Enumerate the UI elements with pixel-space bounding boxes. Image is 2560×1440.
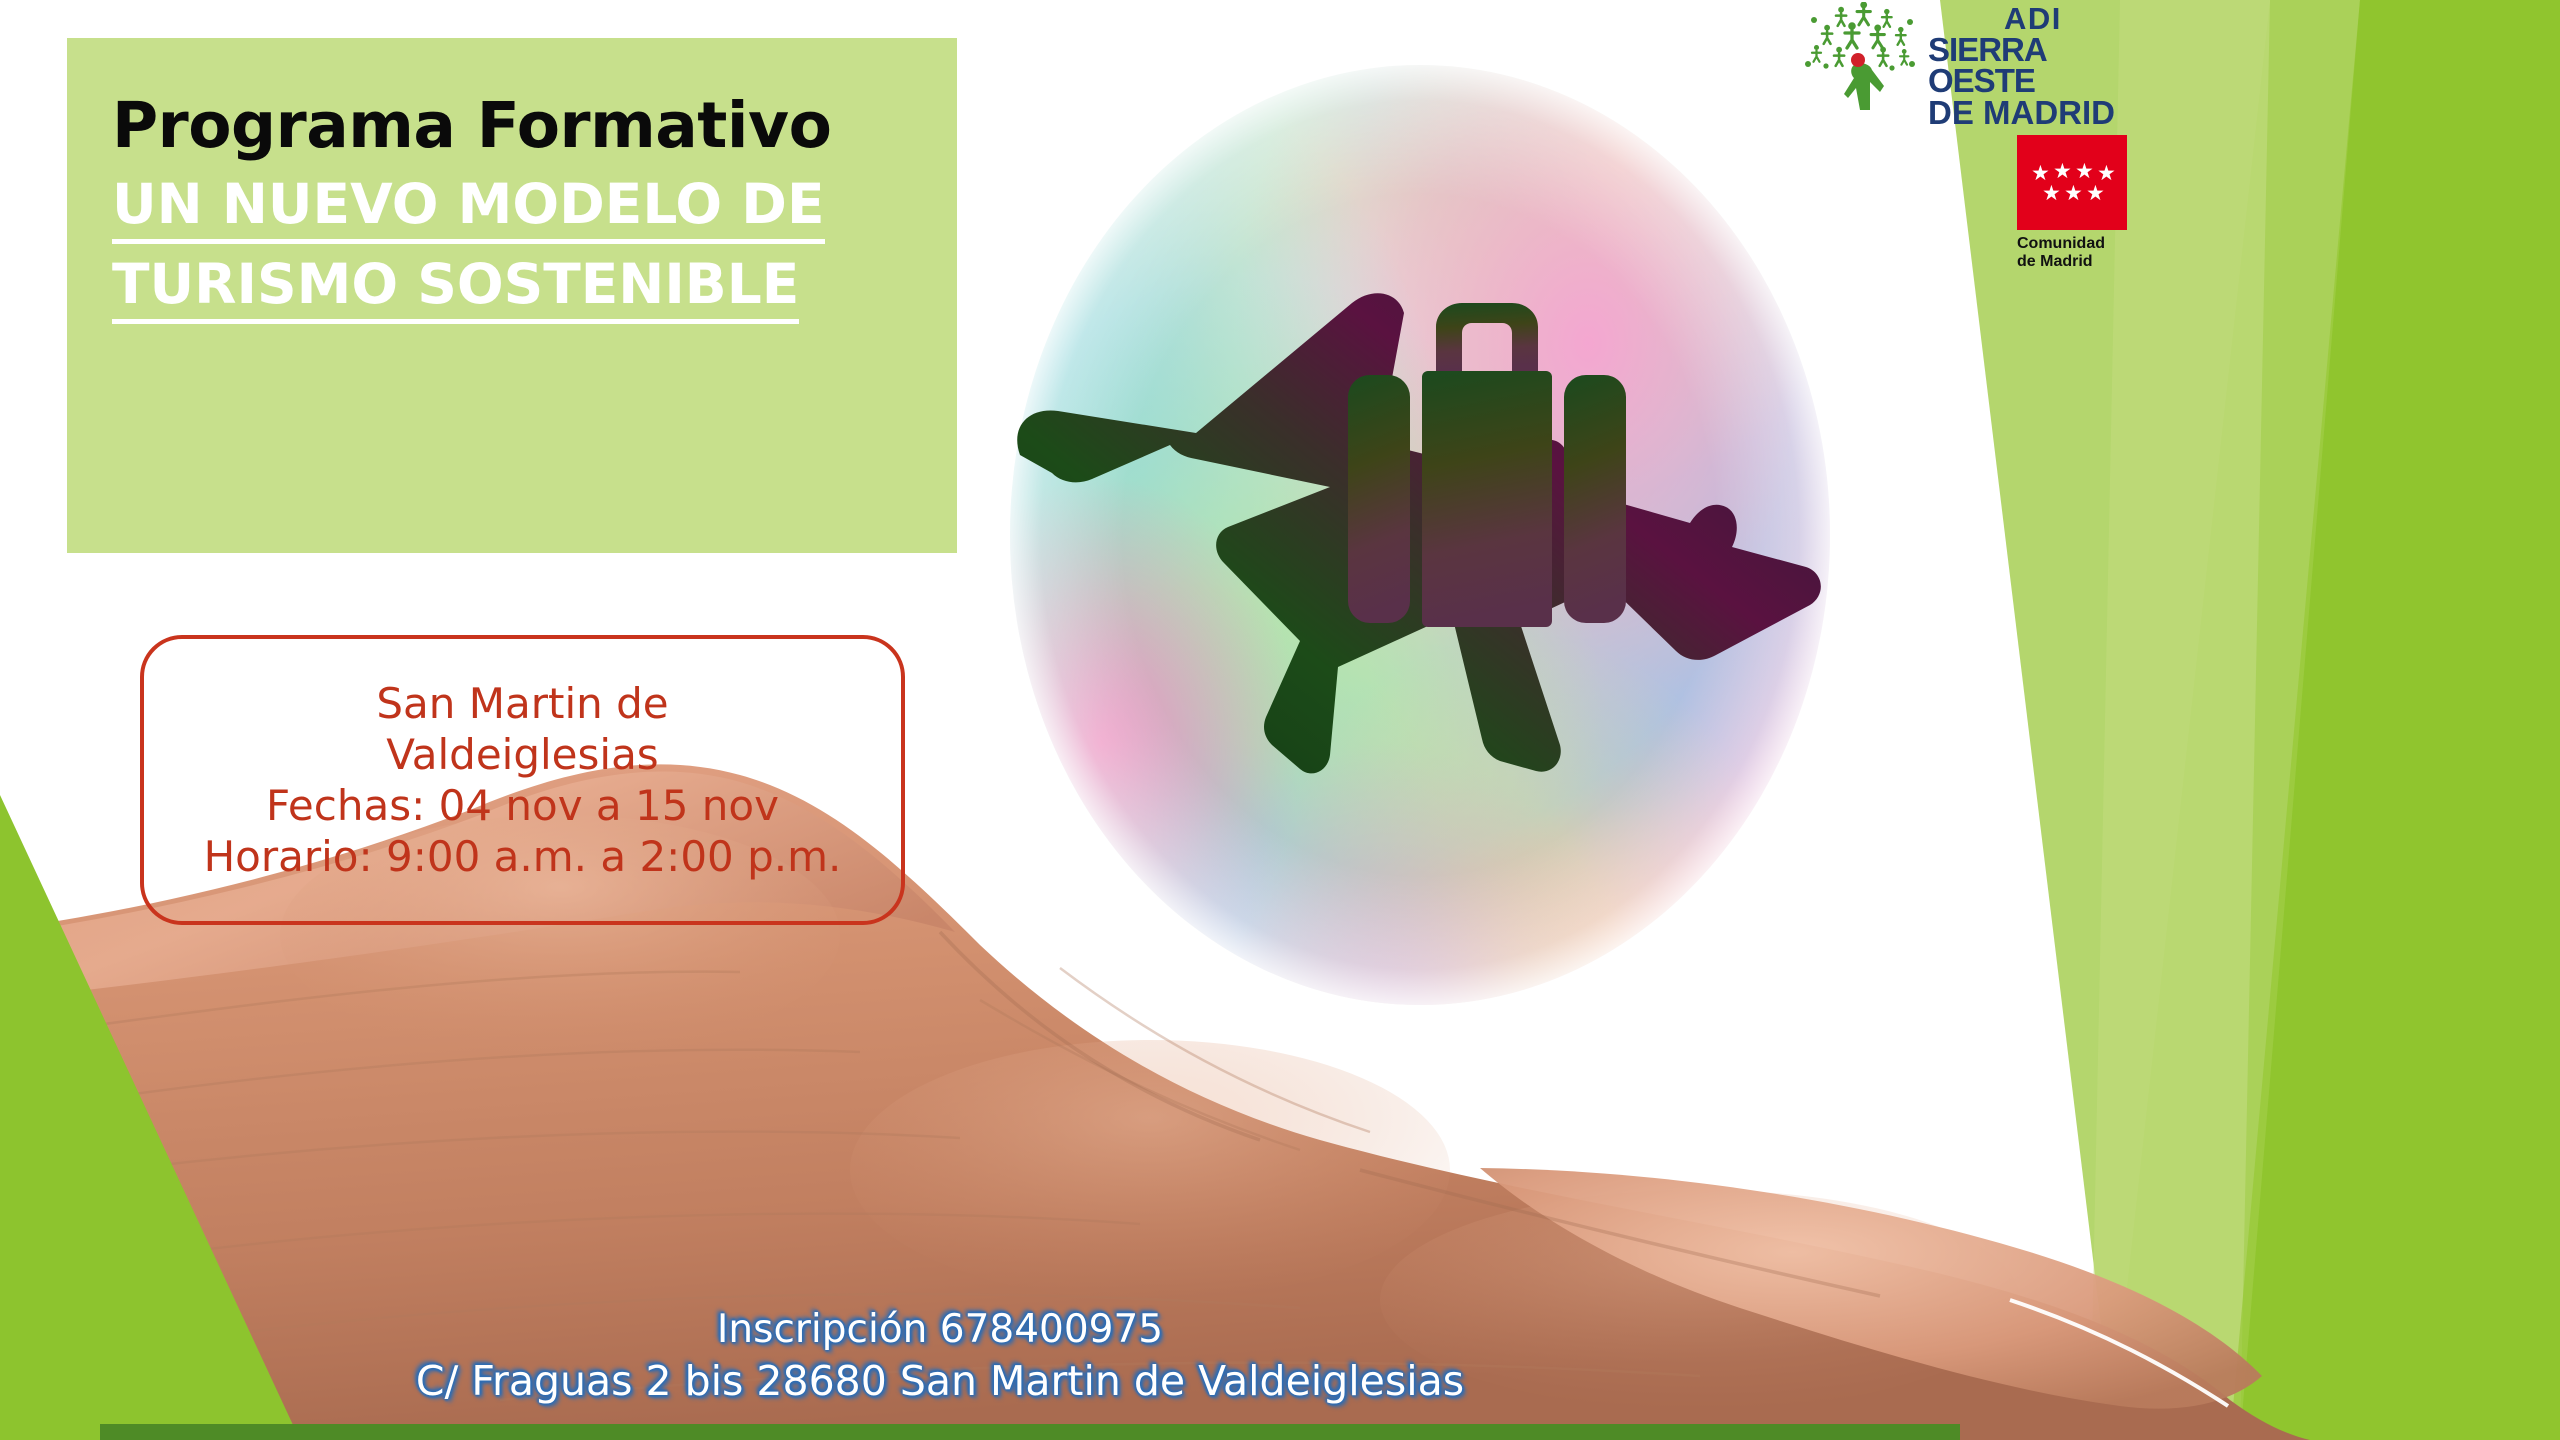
poster-canvas: Programa Formativo UN NUEVO MODELO DE TU… bbox=[0, 0, 2560, 1440]
adi-logo-line-2: SIERRA OESTE bbox=[1928, 34, 2160, 97]
adi-logo-text: ADI SIERRA OESTE DE MADRID bbox=[1928, 4, 2160, 129]
event-dates: Fechas: 04 nov a 15 nov bbox=[266, 780, 779, 831]
comunidad-de-madrid-logo: ★ ★ ★ ★ ★ ★ ★ Comunidad de Madrid bbox=[2017, 135, 2157, 285]
event-schedule: Horario: 9:00 a.m. a 2:00 p.m. bbox=[204, 831, 842, 882]
footer-address: C/ Fraguas 2 bis 28680 San Martin de Val… bbox=[0, 1355, 1880, 1407]
tree-of-people-icon bbox=[1800, 2, 1930, 110]
comunidad-logo-text: Comunidad de Madrid bbox=[2017, 235, 2157, 271]
adi-logo-line-1: ADI bbox=[1928, 4, 2160, 34]
contact-footer: Inscripción 678400975 C/ Fraguas 2 bis 2… bbox=[0, 1305, 1880, 1407]
adi-logo-line-3: DE MADRID bbox=[1928, 97, 2160, 129]
title-panel: Programa Formativo UN NUEVO MODELO DE TU… bbox=[67, 38, 957, 553]
comunidad-logo-line-2: de Madrid bbox=[2017, 253, 2157, 271]
adi-sierra-oeste-logo: ADI SIERRA OESTE DE MADRID bbox=[1800, 2, 2160, 110]
footer-registration-phone: Inscripción 678400975 bbox=[0, 1305, 1880, 1355]
page-title: Programa Formativo bbox=[112, 93, 957, 159]
madrid-flag-icon: ★ ★ ★ ★ ★ ★ ★ bbox=[2017, 135, 2127, 230]
event-details-box: San Martin de Valdeiglesias Fechas: 04 n… bbox=[140, 635, 905, 925]
page-subtitle-line-2: TURISMO SOSTENIBLE bbox=[112, 251, 799, 324]
page-subtitle: UN NUEVO MODELO DE TURISMO SOSTENIBLE bbox=[112, 171, 957, 324]
comunidad-logo-line-1: Comunidad bbox=[2017, 235, 2157, 253]
event-location-line-2: Valdeiglesias bbox=[386, 729, 658, 780]
iridescent-soap-bubble bbox=[1000, 55, 1840, 1165]
page-subtitle-line-1: UN NUEVO MODELO DE bbox=[112, 171, 825, 244]
event-location-line-1: San Martin de bbox=[376, 678, 668, 729]
